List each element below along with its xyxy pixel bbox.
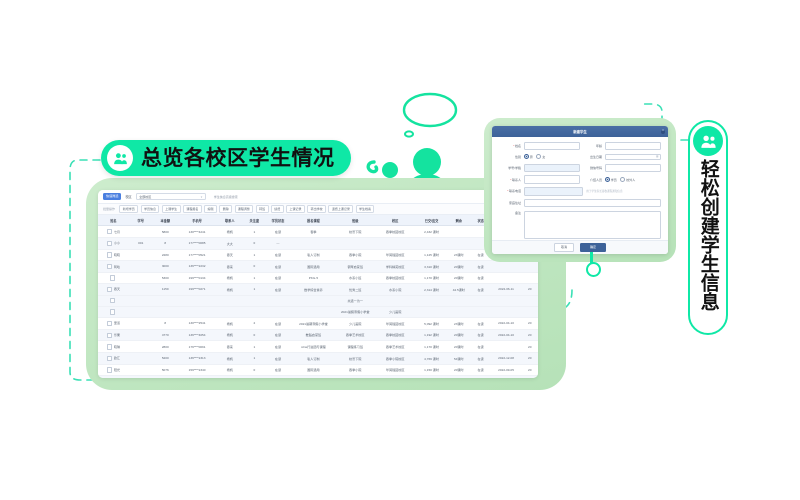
table-cell (522, 261, 538, 273)
table-cell (98, 295, 129, 306)
table-cell: 23课时 (447, 249, 471, 261)
remark-textarea[interactable] (524, 211, 662, 239)
table-cell: 小小 (98, 237, 129, 249)
table-cell: 春季校园校区 (374, 272, 416, 283)
age-label: 年龄 (580, 144, 605, 148)
card-field[interactable] (524, 164, 581, 172)
table-cell (291, 306, 336, 317)
table-cell: 0 (243, 364, 265, 376)
table-row[interactable]: 晓琪2800176****0091春来1在读sCw行进团与课程课程练习班春季艺术… (98, 341, 538, 353)
table-cell: 阿哈 (98, 261, 129, 273)
table-cell: 20 (522, 341, 538, 353)
modal-title: 新建学生 (573, 129, 587, 134)
table-cell (471, 306, 491, 317)
table-cell (129, 329, 153, 341)
row-checkbox[interactable] (107, 287, 112, 292)
row-checkbox[interactable] (110, 298, 115, 303)
campus-select-value: 全部校区 (139, 195, 151, 199)
table-cell: 春季小院 (336, 364, 374, 376)
chevron-down-icon: ▾ (201, 195, 203, 199)
table-cell: 华润锦园校区 (374, 249, 416, 261)
table-cell (178, 306, 216, 317)
table-cell (129, 317, 153, 329)
form-row: *联系人 介绍人员 学员 校外人 (499, 175, 661, 183)
table-cell: 在读 (265, 283, 290, 295)
table-cell (216, 295, 243, 306)
phone-label: *联系电话 (499, 189, 524, 193)
table-cell (129, 272, 153, 283)
table-row[interactable]: 共选一为一 (98, 295, 538, 306)
address-label: 家庭住址 (499, 201, 524, 205)
table-cell: 亚罗 (98, 376, 129, 378)
table-cell: 136****2232 (178, 261, 216, 273)
table-cell: 在读 (265, 249, 290, 261)
table-cell: 国际通用 (291, 261, 336, 273)
table-cell: 在读 (471, 283, 491, 295)
screenshot-root: 总览各校区学生情况 轻松创建学生信息 快速筛选 校区 全部校区 ▾ 学生信息高级… (0, 0, 800, 500)
table-cell: 在读 (265, 272, 290, 283)
table-cell: 5100 (153, 376, 178, 378)
row-checkbox[interactable] (107, 356, 112, 361)
table-cell: 优秀二班 (336, 283, 374, 295)
table-cell: 3000 (153, 261, 178, 273)
table-cell: 130****4241 (178, 226, 216, 238)
table-cell: 20 (522, 364, 538, 376)
table-cell (98, 272, 129, 283)
row-checkbox[interactable] (107, 241, 112, 246)
table-cell: 七月 (98, 226, 129, 238)
campus-label: 校区 (125, 194, 131, 199)
table-cell: 在读 (471, 341, 491, 353)
table-cell: 130****2541 (178, 317, 216, 329)
intro-radio-outsider[interactable]: 校外人 (620, 177, 635, 182)
table-cell (522, 272, 538, 283)
table-cell (265, 295, 290, 306)
table-cell: 在读 (265, 261, 290, 273)
table-cell (216, 306, 243, 317)
advanced-search-link[interactable]: 学生信息高级搜索 (214, 195, 238, 199)
toolbar-button[interactable]: 转班 (256, 205, 269, 213)
right-banner: 轻松创建学生信息 (688, 120, 728, 335)
table-row[interactable]: 阿哈3000136****2232春来0在读国际通用钢琴启蒙班学科精英校区3,3… (98, 261, 538, 273)
toolbar-button[interactable]: 学生档案 (356, 205, 375, 213)
table-cell (416, 306, 447, 317)
col-header[interactable]: 关注度 (243, 215, 265, 226)
phone-hint: 用于学生家长接收课程通知信息 (586, 189, 622, 193)
wechat-field[interactable] (605, 164, 662, 172)
table-cell: 杨帆 (216, 226, 243, 238)
table-cell: 136****2313 (178, 352, 216, 364)
name-label: *姓名 (499, 144, 524, 148)
toolbar-button[interactable]: 学员信息 (141, 205, 160, 213)
table-cell: 20课时 (447, 364, 471, 376)
table-cell: 1150 (153, 283, 178, 295)
table-cell: 159****2340 (178, 364, 216, 376)
sex-label: 性别 (499, 155, 524, 159)
birth-date-picker[interactable]: ▦ (605, 154, 662, 160)
table-cell: 177****0521 (178, 249, 216, 261)
col-header[interactable]: 学员状态 (265, 215, 290, 226)
form-row: *姓名 年龄 (499, 142, 661, 150)
close-icon[interactable]: ✕ (661, 130, 665, 134)
table-cell: 1 (243, 352, 265, 364)
col-header[interactable]: 本金额 (153, 215, 178, 226)
table-cell (447, 295, 471, 306)
table-cell: 春季校园校区 (374, 376, 416, 378)
table-cell: 杨帆 (216, 272, 243, 283)
table-cell: 少儿画院 (336, 317, 374, 329)
table-cell (291, 295, 336, 306)
table-cell (129, 283, 153, 295)
table-cell: 3,310 课时 (416, 261, 447, 273)
table-cell: 数学综合素养 (291, 283, 336, 295)
table-cell: 私人订制 (291, 352, 336, 364)
sex-radio-group[interactable]: 男 女 (524, 154, 546, 159)
table-cell (129, 341, 153, 353)
table-cell: 8 (153, 237, 178, 249)
table-row[interactable]: 里道8130****2541杨帆2在读2021暑期寒假小学堂少儿画院华润锦园校区… (98, 317, 538, 329)
table-cell: 2,432 课时 (416, 226, 447, 238)
table-cell: 1,150 课时 (416, 364, 447, 376)
form-row: *联系电话 用于学生家长接收课程通知信息 (499, 187, 661, 195)
table-cell: 5,092 课时 (416, 317, 447, 329)
table-cell: 学科精英校区 (374, 261, 416, 273)
table-cell: 1,192 课时 (416, 329, 447, 341)
table-cell: 杨帆 (216, 329, 243, 341)
wechat-label: 微信号码 (580, 166, 605, 170)
table-cell: 杨帆 (216, 376, 243, 378)
table-cell: 华润锦园校区 (374, 317, 416, 329)
table-cell: 在读 (471, 272, 491, 283)
sex-radio-female[interactable]: 女 (536, 154, 545, 159)
table-cell: 0 (243, 237, 265, 249)
col-header[interactable]: 班级 (336, 215, 374, 226)
right-banner-label: 轻松创建学生信息 (698, 159, 717, 311)
table-row[interactable]: 阳光5076159****2340杨帆0在读国际通用春季小院华润锦园校区1,15… (98, 364, 538, 376)
table-cell: 2022-09-05 (491, 364, 522, 376)
row-checkbox[interactable] (107, 333, 112, 338)
table-cell: 2022-04-10 (491, 329, 522, 341)
table-cell (447, 306, 471, 317)
table-cell: 1,170 课时 (416, 272, 447, 283)
table-cell (129, 295, 153, 306)
table-cell (336, 237, 374, 249)
row-checkbox[interactable] (107, 264, 112, 269)
table-cell: 校景下院 (336, 226, 374, 238)
student-list-app-panel: 快速筛选 校区 全部校区 ▾ 学生信息高级搜索 批量操作 新增学员 学员信息 上… (98, 190, 538, 378)
table-cell: 4,769 课时 (416, 352, 447, 364)
table-cell: 动漫舞蹈班 (336, 376, 374, 378)
table-cell: 在读 (265, 226, 290, 238)
table-row[interactable]: 小小0018177****0085大大0— (98, 237, 538, 249)
intro-radio-student[interactable]: 学员 (605, 177, 617, 182)
col-header[interactable]: 剩余 (447, 215, 471, 226)
address-field[interactable] (524, 199, 662, 207)
table-cell: 春天 (216, 249, 243, 261)
col-header[interactable]: 报名课程 (291, 215, 336, 226)
intro-label: 介绍人员 (580, 178, 605, 182)
table-cell (178, 295, 216, 306)
table-cell (129, 226, 153, 238)
table-row[interactable]: 欧汇5200136****2313杨帆1在读私人订制校景下院春季小院校区4,76… (98, 352, 538, 364)
table-cell: 春来 (216, 261, 243, 273)
table-cell: 杨帆 (216, 283, 243, 295)
contact-label: *联系人 (499, 178, 524, 182)
col-header[interactable]: 姓名 (98, 215, 129, 226)
table-cell: 1,172 课时 (416, 376, 447, 378)
table-cell: 5800 (153, 226, 178, 238)
row-checkbox[interactable] (107, 367, 112, 372)
people-icon (107, 145, 133, 171)
table-cell (129, 364, 153, 376)
table-cell: 4770 (153, 329, 178, 341)
col-header[interactable]: 已交/应交 (416, 215, 447, 226)
table-cell: 1 (243, 341, 265, 353)
name-field[interactable] (524, 142, 581, 150)
table-cell: 乐果 (98, 329, 129, 341)
table-cell: — (265, 237, 290, 249)
table-cell: 20课时 (447, 272, 471, 283)
toolbar-button[interactable]: 删除 (219, 205, 232, 213)
table-cell: 2800 (153, 341, 178, 353)
table-cell: 华润锦园校区 (374, 364, 416, 376)
toolbar-button[interactable]: 续费 (271, 205, 284, 213)
table-cell: 阳光 (98, 364, 129, 376)
quick-filter-tag[interactable]: 快速筛选 (103, 193, 121, 199)
table-cell: 2022-06-11 (491, 283, 522, 295)
table-cell: 177****0085 (178, 237, 216, 249)
left-banner: 总览各校区学生情况 (101, 140, 351, 176)
form-row: 备注 (499, 211, 661, 239)
table-cell: 在读 (265, 329, 290, 341)
table-cell (129, 249, 153, 261)
table-cell: 5300 (153, 272, 178, 283)
col-header[interactable]: 手机号 (178, 215, 216, 226)
table-row[interactable]: 2021暑假寒假小学堂少儿画院 (98, 306, 538, 317)
table-row[interactable]: 七月5800130****4241杨帆1在读春季校景下院春季校园校区2,432 … (98, 226, 538, 238)
table-row[interactable]: 亚罗5100138****1147杨帆1在读少林动漫舞蹈班春季校园校区1,172… (98, 376, 538, 378)
table-cell: 钢琴启蒙班 (336, 261, 374, 273)
create-student-modal: 新建学生 ✕ *姓名 年龄 性别 男 女 (492, 126, 668, 254)
table-cell: 欧汇 (98, 352, 129, 364)
table-cell: 在读 (471, 329, 491, 341)
table-cell: 在读 (471, 364, 491, 376)
table-cell (491, 341, 522, 353)
table-cell: 176****0091 (178, 341, 216, 353)
table-header-row: 姓名 学号 本金额 手机号 联系人 关注度 学员状态 报名课程 班级 校区 已交… (98, 215, 538, 226)
table-cell: 晓晓 (98, 249, 129, 261)
table-cell (129, 261, 153, 273)
table-cell: 2021暑期寒假小学堂 (291, 317, 336, 329)
contact-field[interactable] (524, 175, 581, 183)
table-cell (491, 306, 522, 317)
table-cell: 水墨小班 (336, 272, 374, 283)
toolbar-button[interactable]: 退费上课记录 (328, 205, 353, 213)
table-cell (98, 306, 129, 317)
table-cell: 大大 (216, 237, 243, 249)
toolbar: 批量操作 新增学员 学员信息 上课学生 课程报名 编辑 删除 课程调整 转班 续… (98, 204, 538, 215)
row-checkbox[interactable] (107, 321, 112, 326)
table-cell: 在读 (471, 376, 491, 378)
table-body: 七月5800130****4241杨帆1在读春季校景下院春季校园校区2,432 … (98, 226, 538, 378)
table-cell (265, 306, 290, 317)
row-checkbox[interactable] (107, 229, 112, 234)
table-cell: 在读 (265, 352, 290, 364)
table-cell: 1 (243, 249, 265, 261)
table-cell: 春来 (216, 341, 243, 353)
col-header[interactable]: 学号 (129, 215, 153, 226)
toolbar-button[interactable]: 新增学员 (119, 205, 138, 213)
table-cell: 2280 (153, 249, 178, 261)
table-cell: 少林 (291, 376, 336, 378)
table-cell: 2022-12-08 (491, 376, 522, 378)
card-label: 学号/学籍 (499, 166, 524, 170)
remark-label: 备注 (499, 211, 524, 215)
table-cell: 0 (243, 329, 265, 341)
form-row: 性别 男 女 出生日期 ▦ (499, 154, 661, 160)
table-cell: 国际通用 (291, 364, 336, 376)
row-checkbox[interactable] (110, 275, 115, 280)
table-cell: 20课时 (447, 261, 471, 273)
table-cell: 春季校园校区 (374, 329, 416, 341)
table-cell: 里道 (98, 317, 129, 329)
table-cell (374, 237, 416, 249)
confirm-button[interactable]: 确定 (580, 243, 606, 251)
table-row[interactable]: 5300199****0134杨帆1在读PKG-5水墨小班春季校园校区1,170… (98, 272, 538, 283)
table-cell: 在读 (265, 317, 290, 329)
table-cell: 138****1147 (178, 376, 216, 378)
connector-dot (586, 262, 601, 277)
modal-body: *姓名 年龄 性别 男 女 出生日期 ▦ (492, 137, 668, 246)
modal-footer: 取消 确定 (492, 240, 668, 254)
table-cell: 春天 (98, 283, 129, 295)
toolbar-button[interactable]: 课程调整 (235, 205, 254, 213)
toolbar-button[interactable]: 课程报名 (183, 205, 202, 213)
row-checkbox[interactable] (107, 344, 112, 349)
table-cell: 杨帆 (216, 364, 243, 376)
table-cell (522, 295, 538, 306)
table-cell: 001 (129, 237, 153, 249)
table-cell: 1,125 课时 (416, 249, 447, 261)
table-cell: 在读 (265, 341, 290, 353)
table-row[interactable]: 乐果4770136****4054杨帆0在读舞蹈启蒙班春季艺术校区春季校园校区1… (98, 329, 538, 341)
table-cell (447, 237, 471, 249)
people-icon (693, 126, 723, 156)
toolbar-button[interactable]: 上课学生 (162, 205, 181, 213)
row-checkbox[interactable] (110, 309, 115, 314)
table-cell: 少儿画院 (374, 306, 416, 317)
table-cell: 2,314 课时 (416, 283, 447, 295)
table-cell: 舞蹈启蒙班 (291, 329, 336, 341)
table-cell (291, 237, 336, 249)
table-cell: 54课时 (447, 352, 471, 364)
col-header[interactable]: 校区 (374, 215, 416, 226)
table-cell: sCw行进团与课程 (291, 341, 336, 353)
table-cell: 杨帆 (216, 317, 243, 329)
table-cell: 春季校园校区 (374, 226, 416, 238)
table-cell: 20 (522, 329, 538, 341)
table-cell: 春季艺术校区 (374, 341, 416, 353)
table-cell (522, 306, 538, 317)
toolbar-button[interactable]: 转出学校 (307, 205, 326, 213)
table-row[interactable]: 晓晓2280177****0521春天1在读私人订制春季小院华润锦园校区1,12… (98, 249, 538, 261)
table-cell: 0 (243, 261, 265, 273)
table-cell: 课程练习班 (336, 341, 374, 353)
table-cell (491, 272, 522, 283)
modal-title-bar: 新建学生 ✕ (492, 126, 668, 137)
table-cell (447, 226, 471, 238)
table-cell: 199****0134 (178, 272, 216, 283)
table-cell: 20 (522, 352, 538, 364)
table-cell: 春季 (291, 226, 336, 238)
filter-bar: 快速筛选 校区 全部校区 ▾ 学生信息高级搜索 (98, 190, 538, 204)
table-cell: 在读 (471, 261, 491, 273)
table-row[interactable]: 春天1150199****0271杨帆1在读数学综合素养优秀二班水墨小院2,31… (98, 283, 538, 295)
col-header[interactable]: 联系人 (216, 215, 243, 226)
table-cell: 2022-04-10 (491, 317, 522, 329)
cancel-button[interactable]: 取消 (554, 243, 574, 251)
table-cell: 23课时 (447, 317, 471, 329)
table-cell (416, 237, 447, 249)
table-cell: 2021暑假寒假小学堂 (336, 306, 374, 317)
table-cell: PKG-5 (291, 272, 336, 283)
toolbar-button[interactable]: 编辑 (204, 205, 217, 213)
left-banner-label: 总览各校区学生情况 (141, 148, 335, 169)
table-cell: 春季艺术校区 (336, 329, 374, 341)
table-cell (471, 295, 491, 306)
table-cell: 20课时 (447, 329, 471, 341)
birth-label: 出生日期 (580, 155, 605, 159)
campus-select[interactable]: 全部校区 ▾ (136, 193, 206, 201)
table-cell (243, 295, 265, 306)
intro-radio-group[interactable]: 学员 校外人 (605, 177, 636, 182)
toolbar-lead-label: 批量操作 (103, 207, 115, 211)
toolbar-button[interactable]: 上课记录 (286, 205, 305, 213)
table-cell: 136****4054 (178, 329, 216, 341)
table-cell: 199****0271 (178, 283, 216, 295)
table-cell (491, 295, 522, 306)
table-cell (129, 306, 153, 317)
table-cell (129, 352, 153, 364)
student-table: 姓名 学号 本金额 手机号 联系人 关注度 学员状态 报名课程 班级 校区 已交… (98, 215, 538, 378)
table-cell: 20 (522, 283, 538, 295)
table-cell: 1 (243, 272, 265, 283)
table-cell: 在读 (265, 376, 290, 378)
table-cell: 20课时 (447, 341, 471, 353)
table-cell: 晓琪 (98, 341, 129, 353)
phone-field[interactable] (524, 187, 584, 195)
table-cell: 1,170 课时 (416, 341, 447, 353)
row-checkbox[interactable] (107, 252, 112, 257)
table-cell: 20 (522, 317, 538, 329)
sex-radio-male[interactable]: 男 (524, 154, 533, 159)
age-field[interactable] (605, 142, 662, 150)
table-cell: 春季小院校区 (374, 352, 416, 364)
table-cell (243, 306, 265, 317)
table-cell: 8 (153, 317, 178, 329)
form-row: 学号/学籍 微信号码 (499, 164, 661, 172)
table-cell: 校景下院 (336, 352, 374, 364)
table-cell (491, 261, 522, 273)
table-cell: 2 (243, 317, 265, 329)
table-cell: 5200 (153, 352, 178, 364)
table-cell (416, 295, 447, 306)
table-cell: 1 (243, 376, 265, 378)
table-cell: 私人订制 (291, 249, 336, 261)
table-cell: 1 (243, 283, 265, 295)
table-cell: 杨帆 (216, 352, 243, 364)
table-cell (153, 306, 178, 317)
